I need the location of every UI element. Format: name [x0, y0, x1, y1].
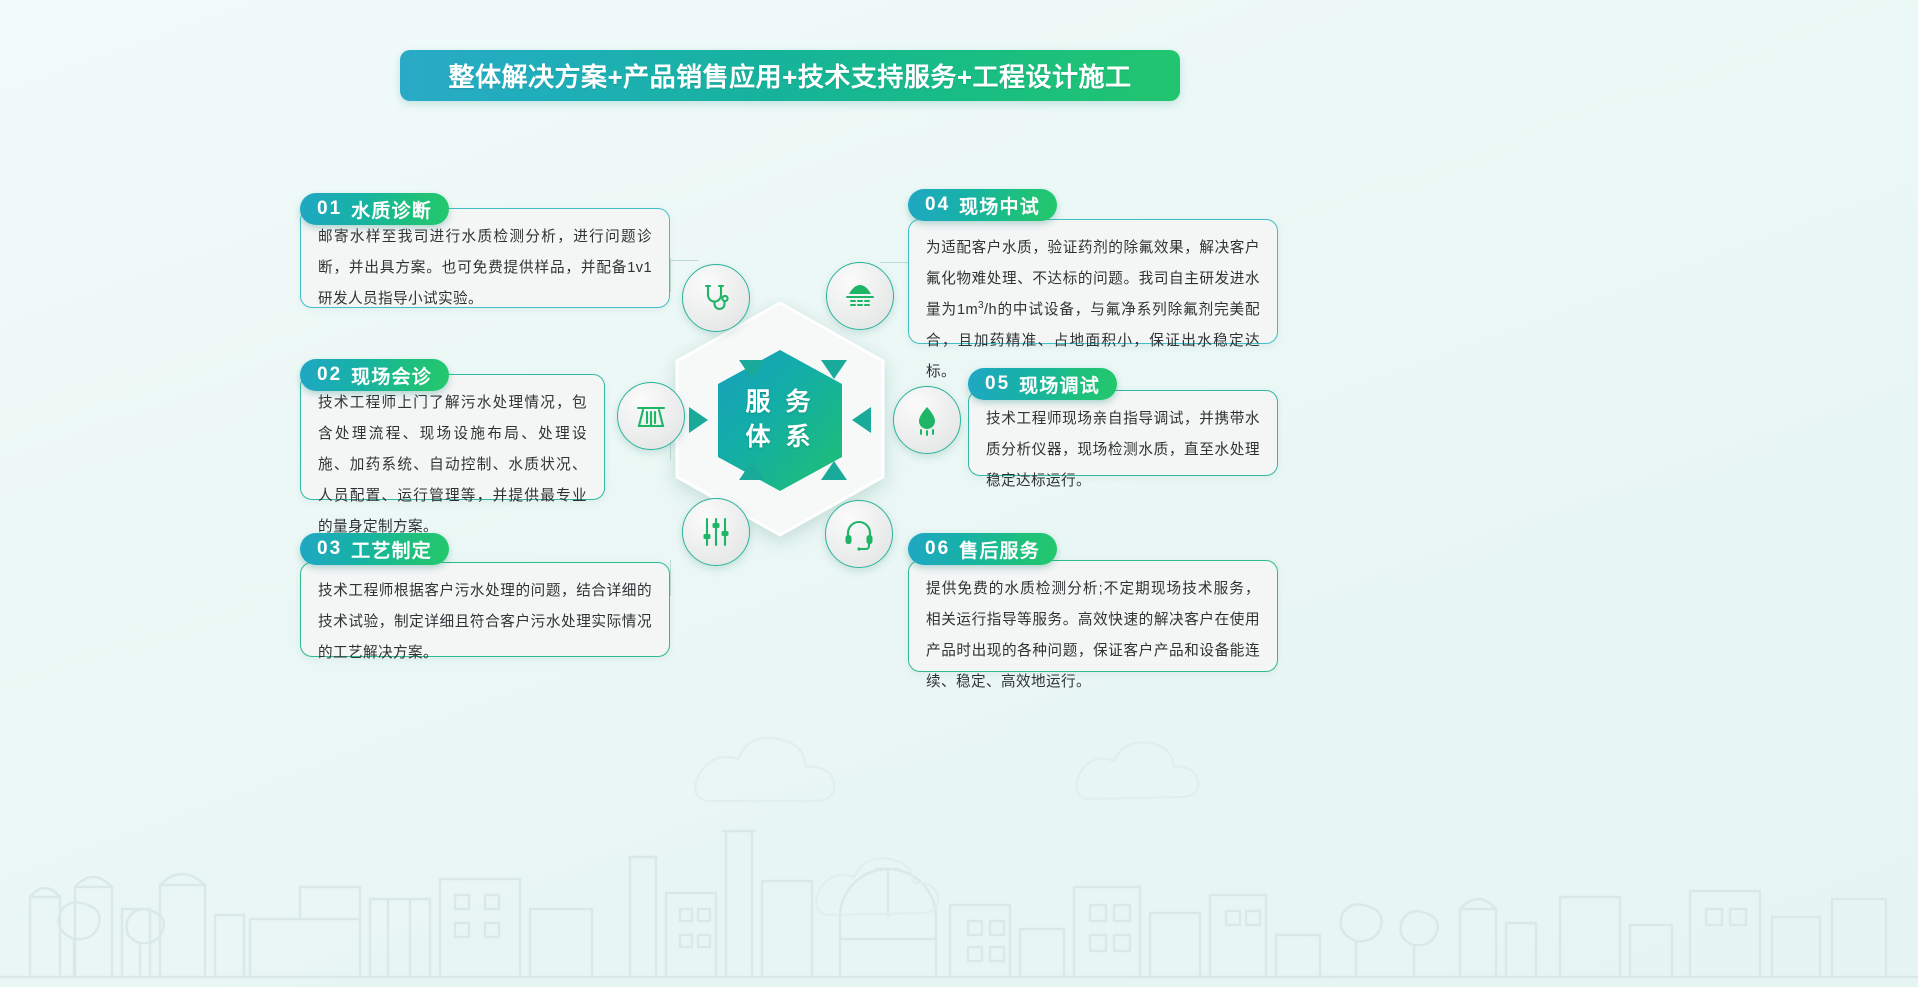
headset-icon: [842, 517, 876, 551]
icon-circle-03[interactable]: [682, 498, 750, 566]
icon-circle-05[interactable]: [893, 386, 961, 454]
water-treatment-icon: [843, 279, 877, 313]
card-02-body: 技术工程师上门了解污水处理情况，包含处理流程、现场设施布局、处理设施、加药系统、…: [301, 375, 604, 555]
card-03-title-pill[interactable]: 03 工艺制定: [300, 533, 449, 565]
card-06-number: 06: [925, 538, 950, 560]
card-05-body: 技术工程师现场亲自指导调试，并携带水质分析仪器，现场检测水质，直至水处理稳定达标…: [969, 391, 1277, 509]
card-05-number: 05: [985, 373, 1010, 395]
card-02-title: 现场会诊: [351, 362, 432, 389]
banner-title: 整体解决方案+产品销售应用+技术支持服务+工程设计施工: [448, 57, 1131, 94]
header-banner: 整体解决方案+产品销售应用+技术支持服务+工程设计施工: [400, 50, 1180, 101]
card-04-title: 现场中试: [959, 192, 1040, 219]
card-05-title: 现场调试: [1019, 371, 1100, 398]
sliders-icon: [699, 515, 733, 549]
card-03-title: 工艺制定: [351, 536, 432, 563]
stethoscope-icon: [699, 281, 733, 315]
card-02-number: 02: [317, 364, 342, 386]
card-05[interactable]: 技术工程师现场亲自指导调试，并携带水质分析仪器，现场检测水质，直至水处理稳定达标…: [968, 390, 1278, 476]
card-04-title-pill[interactable]: 04 现场中试: [908, 189, 1057, 221]
card-06-title-pill[interactable]: 06 售后服务: [908, 533, 1057, 565]
card-01-title: 水质诊断: [351, 196, 432, 223]
icon-circle-04[interactable]: [826, 262, 894, 330]
card-01-body: 邮寄水样至我司进行水质检测分析，进行问题诊断，并出具方案。也可免费提供样品，并配…: [301, 209, 669, 327]
card-02-title-pill[interactable]: 02 现场会诊: [300, 359, 449, 391]
card-01-number: 01: [317, 198, 342, 220]
icon-circle-01[interactable]: [682, 264, 750, 332]
droplet-flask-icon: [910, 403, 944, 437]
card-06[interactable]: 提供免费的水质检测分析;不定期现场技术服务，相关运行指导等服务。高效快速的解决客…: [908, 560, 1278, 672]
card-04[interactable]: 为适配客户水质，验证药剂的除氟效果，解决客户氟化物难处理、不达标的问题。我司自主…: [908, 219, 1278, 344]
card-03-body: 技术工程师根据客户污水处理的问题，结合详细的技术试验，制定详细且符合客户污水处理…: [301, 563, 669, 681]
card-06-title: 售后服务: [959, 536, 1040, 563]
icon-circle-06[interactable]: [825, 500, 893, 568]
plant-structure-icon: [634, 399, 668, 433]
card-05-title-pill[interactable]: 05 现场调试: [968, 368, 1117, 400]
card-02[interactable]: 技术工程师上门了解污水处理情况，包含处理流程、现场设施布局、处理设施、加药系统、…: [300, 374, 605, 500]
card-04-number: 04: [925, 194, 950, 216]
card-06-body: 提供免费的水质检测分析;不定期现场技术服务，相关运行指导等服务。高效快速的解决客…: [909, 561, 1277, 710]
card-03-number: 03: [317, 538, 342, 560]
icon-circle-02[interactable]: [617, 382, 685, 450]
card-01-title-pill[interactable]: 01 水质诊断: [300, 193, 449, 225]
card-03[interactable]: 技术工程师根据客户污水处理的问题，结合详细的技术试验，制定详细且符合客户污水处理…: [300, 562, 670, 657]
